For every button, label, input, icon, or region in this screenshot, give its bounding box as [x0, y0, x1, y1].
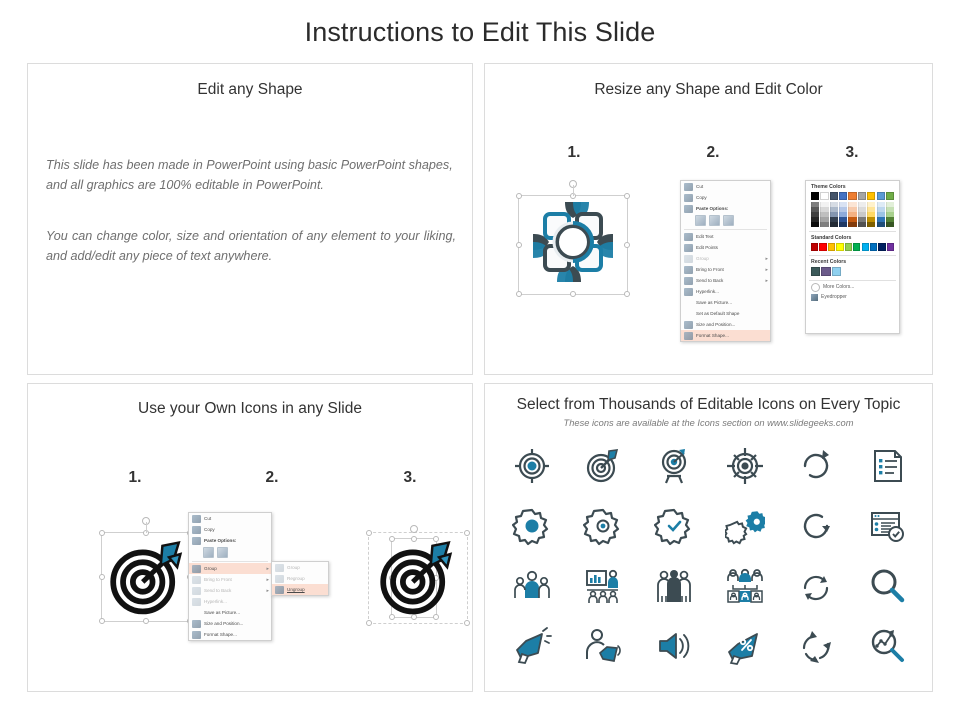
menu-item-save-as-picture[interactable]: Save as Picture...: [189, 607, 271, 618]
magnifier-icon: [867, 566, 907, 606]
icon-cell-0[interactable]: [509, 443, 555, 489]
group-icon: [192, 565, 201, 573]
icon-library-grid[interactable]: [497, 436, 922, 676]
panel-title-edit-shape: Edit any Shape: [28, 81, 472, 99]
icon-cell-14[interactable]: [651, 563, 697, 609]
icon-cell-18[interactable]: [509, 623, 555, 669]
theme-color-swatch-0[interactable]: [811, 192, 819, 200]
icon-cell-1[interactable]: [580, 443, 626, 489]
chevron-right-icon: ▸: [765, 278, 768, 284]
paragraph-customization-note: You can change color, size and orientati…: [46, 227, 456, 266]
org-chart-people-icon: [725, 566, 765, 606]
standard-color-swatch-9[interactable]: [887, 243, 894, 251]
standard-color-swatch-5[interactable]: [853, 243, 860, 251]
theme-color-swatch-7[interactable]: [877, 192, 885, 200]
target-stand-icon: [654, 446, 694, 486]
refresh-clockwise-icon: [796, 446, 836, 486]
theme-color-swatch-3[interactable]: [839, 192, 847, 200]
icon-cell-2[interactable]: [651, 443, 697, 489]
icon-cell-8[interactable]: [651, 503, 697, 549]
icon-cell-20[interactable]: [651, 623, 697, 669]
theme-tint-swatch-4-8[interactable]: [886, 222, 894, 227]
menu-item-hyperlink[interactable]: Hyperlink...: [681, 286, 770, 297]
menu-item-group[interactable]: Group▸: [189, 563, 271, 574]
target-arrow-graphic: [105, 536, 187, 618]
group-submenu[interactable]: Group Regroup Ungroup: [271, 561, 329, 596]
menu-item-cut[interactable]: Cut: [189, 513, 271, 524]
menu-item-format-shape[interactable]: Format Shape...: [189, 629, 271, 640]
standard-colors-row[interactable]: [806, 243, 899, 251]
people-crowd-icon: [654, 566, 694, 606]
gear-outline-icon: [583, 506, 623, 546]
chevron-right-icon: ▸: [765, 256, 768, 262]
theme-colors-row[interactable]: [806, 192, 899, 200]
target-arrow-graphic-ungrouped: [375, 536, 457, 618]
panel-title-resize-shape: Resize any Shape and Edit Color: [485, 81, 932, 99]
standard-colors-label: Standard Colors: [806, 232, 899, 243]
target-icon-selection-3[interactable]: [353, 524, 473, 634]
recent-colors-row[interactable]: [806, 267, 899, 275]
rotate-handle[interactable]: [410, 525, 418, 533]
icon-cell-21[interactable]: [722, 623, 768, 669]
menu-item-send-to-back[interactable]: Send to Back▸: [681, 275, 770, 286]
standard-color-swatch-8[interactable]: [878, 243, 885, 251]
menu-item-bring-to-front: Bring to Front▸: [189, 574, 271, 585]
theme-tint-swatch-4-5[interactable]: [858, 222, 866, 227]
menu-divider: [684, 229, 767, 230]
menu-item-copy[interactable]: Copy: [189, 524, 271, 535]
submenu-item-ungroup[interactable]: Ungroup: [272, 584, 328, 595]
step-number-3: 3.: [832, 144, 872, 162]
theme-tint-swatch-4-6[interactable]: [867, 222, 875, 227]
refresh-two-arrows-icon: [796, 566, 836, 606]
edit-points-icon: [684, 244, 693, 252]
menu-item-edit-text[interactable]: Edit Text: [681, 231, 770, 242]
color-picker-panel[interactable]: Theme Colors Standard Colors Recent Colo…: [805, 180, 900, 334]
standard-color-swatch-0[interactable]: [811, 243, 818, 251]
step-number-1: 1.: [554, 144, 594, 162]
recent-colors-label: Recent Colors: [806, 256, 899, 267]
paste-icon: [684, 205, 693, 213]
theme-tint-swatch-4-2[interactable]: [830, 222, 838, 227]
gear-solid-icon: [512, 506, 552, 546]
step-number-1: 1.: [115, 469, 155, 487]
panel-resize-shape-edit-color: Resize any Shape and Edit Color 1. 2. 3.: [484, 63, 933, 375]
paste-keep-format-icon[interactable]: [203, 547, 214, 558]
panel-editable-icons: Select from Thousands of Editable Icons …: [484, 383, 933, 692]
magnifier-chart-icon: [867, 626, 907, 666]
team-group-icon: [512, 566, 552, 606]
chevron-right-icon: ▸: [266, 588, 269, 594]
menu-item-bring-to-front[interactable]: Bring to Front▸: [681, 264, 770, 275]
menu-item-paste-options[interactable]: Paste Options:: [189, 535, 271, 546]
copy-icon: [684, 194, 693, 202]
scissors-icon: [192, 515, 201, 523]
icon-cell-10[interactable]: [793, 503, 839, 549]
hyperlink-icon: [684, 288, 693, 296]
standard-color-swatch-4[interactable]: [845, 243, 852, 251]
icon-context-menu[interactable]: Cut Copy Paste Options: Group▸ Bring to …: [188, 512, 272, 641]
more-colors-button[interactable]: More Colors...: [806, 281, 899, 292]
icon-cell-7[interactable]: [580, 503, 626, 549]
standard-color-swatch-3[interactable]: [836, 243, 843, 251]
menu-item-copy[interactable]: Copy: [681, 192, 770, 203]
gears-pair-icon: [725, 506, 765, 546]
chevron-right-icon: ▸: [266, 577, 269, 583]
menu-item-hyperlink: Hyperlink...: [189, 596, 271, 607]
icon-cell-22[interactable]: [793, 623, 839, 669]
menu-item-edit-points[interactable]: Edit Points: [681, 242, 770, 253]
chevron-right-icon: ▸: [765, 267, 768, 273]
bring-front-icon: [684, 266, 693, 274]
hyperlink-icon: [192, 598, 201, 606]
standard-color-swatch-6[interactable]: [862, 243, 869, 251]
theme-tint-row-4[interactable]: [806, 222, 899, 227]
megaphone-icon: [512, 626, 552, 666]
icon-cell-13[interactable]: [580, 563, 626, 609]
ungroup-icon: [275, 586, 284, 594]
send-back-icon: [192, 587, 201, 595]
standard-color-swatch-7[interactable]: [870, 243, 877, 251]
format-shape-icon: [192, 631, 201, 639]
menu-divider: [192, 561, 268, 562]
menu-item-group: Group▸: [681, 253, 770, 264]
group-icon: [275, 564, 284, 572]
icon-cell-5[interactable]: [864, 443, 910, 489]
menu-item-cut[interactable]: Cut: [681, 181, 770, 192]
send-back-icon: [684, 277, 693, 285]
theme-tint-swatch-4-4[interactable]: [848, 222, 856, 227]
paste-picture-icon[interactable]: [217, 547, 228, 558]
icon-cell-6[interactable]: [509, 503, 555, 549]
menu-item-format-shape[interactable]: Format Shape...: [681, 330, 770, 341]
theme-tint-swatch-4-0[interactable]: [811, 222, 819, 227]
recent-color-swatch-2[interactable]: [832, 267, 841, 275]
icon-cell-23[interactable]: [864, 623, 910, 669]
target-arrow-icon: [583, 446, 623, 486]
gear-check-icon: [654, 506, 694, 546]
panel-title-own-icons: Use your Own Icons in any Slide: [28, 400, 472, 418]
theme-color-swatch-2[interactable]: [830, 192, 838, 200]
step-number-2: 2.: [693, 144, 733, 162]
paste-keep-format-icon[interactable]: [695, 215, 706, 226]
regroup-icon: [275, 575, 284, 583]
menu-item-send-to-back: Send to Back▸: [189, 585, 271, 596]
icon-cell-16[interactable]: [793, 563, 839, 609]
group-icon: [684, 255, 693, 263]
crosshair-dot-icon: [725, 446, 765, 486]
icon-cell-15[interactable]: [722, 563, 768, 609]
eyedropper-icon: [811, 294, 818, 301]
page-title: Instructions to Edit This Slide: [0, 17, 960, 48]
theme-color-swatch-4[interactable]: [848, 192, 856, 200]
megaphone-percent-icon: [725, 626, 765, 666]
copy-icon: [192, 526, 201, 534]
theme-tint-swatch-4-7[interactable]: [877, 222, 885, 227]
submenu-item-group: Group: [272, 562, 328, 573]
palette-icon: [811, 283, 820, 292]
menu-item-size-and-position[interactable]: Size and Position...: [189, 618, 271, 629]
recent-color-swatch-0[interactable]: [811, 267, 820, 275]
menu-item-size-and-position[interactable]: Size and Position...: [681, 319, 770, 330]
step-number-2: 2.: [252, 469, 292, 487]
paste-merge-icon[interactable]: [709, 215, 720, 226]
icon-cell-19[interactable]: [580, 623, 626, 669]
chevron-right-icon: ▸: [266, 566, 269, 572]
menu-item-paste-options[interactable]: Paste Options:: [681, 203, 770, 214]
panel-subtitle-icons-source: These icons are available at the Icons s…: [485, 418, 932, 428]
presentation-audience-icon: [583, 566, 623, 606]
theme-color-swatch-1[interactable]: [820, 192, 828, 200]
shape-selection-illustration[interactable]: [513, 182, 633, 302]
scissors-icon: [684, 183, 693, 191]
theme-tint-swatch-4-3[interactable]: [839, 222, 847, 227]
paste-option-buttons[interactable]: [189, 546, 271, 559]
theme-tint-swatch-4-1[interactable]: [820, 222, 828, 227]
target-icon-selection-1[interactable]: [73, 524, 193, 634]
size-position-icon: [684, 321, 693, 329]
menu-item-save-as-picture[interactable]: Save as Picture...: [681, 297, 770, 308]
icon-cell-4[interactable]: [793, 443, 839, 489]
editable-shape-graphic: [513, 182, 633, 302]
icon-cell-3[interactable]: [722, 443, 768, 489]
size-position-icon: [192, 620, 201, 628]
checklist-window-check-icon: [867, 506, 907, 546]
theme-colors-label: Theme Colors: [806, 181, 899, 192]
paste-picture-icon[interactable]: [723, 215, 734, 226]
menu-item-set-default-shape[interactable]: Set as Default Shape: [681, 308, 770, 319]
standard-color-swatch-2[interactable]: [828, 243, 835, 251]
eyedropper-button[interactable]: Eyedropper: [806, 292, 899, 301]
format-shape-icon: [684, 332, 693, 340]
speaker-icon: [654, 626, 694, 666]
theme-color-swatch-5[interactable]: [858, 192, 866, 200]
theme-color-swatch-8[interactable]: [886, 192, 894, 200]
edit-text-icon: [684, 233, 693, 241]
target-crosshair-icon: [512, 446, 552, 486]
paste-option-buttons[interactable]: [681, 214, 770, 227]
theme-color-tints[interactable]: [806, 202, 899, 227]
recent-color-swatch-1[interactable]: [821, 267, 830, 275]
icon-cell-9[interactable]: [722, 503, 768, 549]
slide-canvas: Instructions to Edit This Slide Edit any…: [0, 0, 960, 720]
refresh-circle-icon: [796, 506, 836, 546]
bring-front-icon: [192, 576, 201, 584]
paragraph-editable-note: This slide has been made in PowerPoint u…: [46, 156, 456, 195]
theme-color-swatch-6[interactable]: [867, 192, 875, 200]
paste-icon: [192, 537, 201, 545]
panel-use-own-icons: Use your Own Icons in any Slide 1. 2. 3.: [27, 383, 473, 692]
person-megaphone-icon: [583, 626, 623, 666]
icon-cell-12[interactable]: [509, 563, 555, 609]
shape-context-menu[interactable]: Cut Copy Paste Options: Edit Text Edit P…: [680, 180, 771, 342]
refresh-triangle-arrows-icon: [796, 626, 836, 666]
checklist-document-icon: [867, 446, 907, 486]
submenu-item-regroup: Regroup: [272, 573, 328, 584]
standard-color-swatch-1[interactable]: [819, 243, 826, 251]
icon-cell-11[interactable]: [864, 503, 910, 549]
panel-title-editable-icons: Select from Thousands of Editable Icons …: [485, 396, 932, 414]
panel-edit-any-shape: Edit any Shape This slide has been made …: [27, 63, 473, 375]
icon-cell-17[interactable]: [864, 563, 910, 609]
step-number-3: 3.: [390, 469, 430, 487]
